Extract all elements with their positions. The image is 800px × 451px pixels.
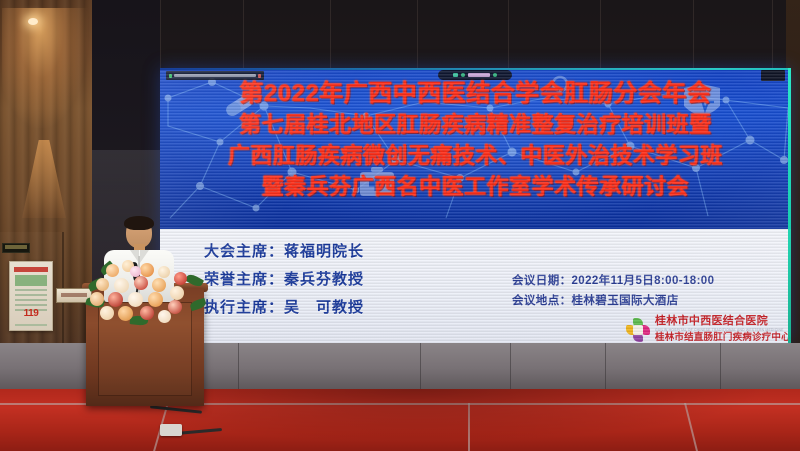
hospital-name-cn: 桂林市中西医结合医院	[655, 316, 791, 328]
signal-icon	[453, 73, 458, 77]
toolbar-label-center	[468, 73, 490, 77]
fire-safety-notice: 119	[9, 261, 53, 331]
chairperson-list: 大会主席：蒋福明院长 荣誉主席：秦兵芬教授 执行主席：吴 可教授	[204, 244, 364, 328]
meeting-meta: 会议日期：2022年11月5日8:00-18:00 会议地点：桂林碧玉国际大酒店	[512, 276, 714, 315]
chair-line-honorary: 荣誉主席：秦兵芬教授	[204, 272, 364, 287]
screen-edge-right	[788, 68, 791, 343]
led-stage-screen: 第2022年广西中西医结合学会肛肠分会年会 第七届桂北地区肛肠疾病精准整复治疗培…	[160, 68, 791, 343]
toolbar-label-left	[174, 74, 256, 77]
chair-line-executive: 执行主席：吴 可教授	[204, 300, 364, 315]
meeting-date: 会议日期：2022年11月5日8:00-18:00	[512, 276, 714, 288]
floor-power-box	[160, 424, 182, 436]
title-line-3: 广西肛肠疾病微创无痛技术、中医外治技术学习班	[160, 145, 791, 167]
title-line-4: 暨秦兵芬广西名中医工作室学术传承研讨会	[160, 176, 791, 198]
conference-title-block: 第2022年广西中西医结合学会肛肠分会年会 第七届桂北地区肛肠疾病精准整复治疗培…	[160, 82, 791, 198]
pinwheel-cross-logo-icon	[626, 318, 650, 342]
ceiling-spotlight-glow	[2, 8, 88, 128]
title-line-2: 第七届桂北地区肛肠疾病精准整复治疗培训班暨	[160, 114, 791, 136]
meeting-venue: 会议地点：桂林碧玉国际大酒店	[512, 296, 714, 308]
toolbar-status-chip	[169, 74, 172, 78]
slide-toolbar-center[interactable]	[438, 70, 512, 80]
hospital-identity: 桂林市中西医结合医院 GUILIN HOSPITAL OF CHINESE TR…	[626, 316, 791, 343]
chair-line-general: 大会主席：蒋福明院长	[204, 244, 364, 259]
exit-sign	[2, 243, 30, 253]
notice-warning-box	[15, 275, 47, 286]
screen-edge-top	[160, 68, 791, 70]
status-dot-icon	[461, 73, 465, 77]
slide-toolbar-right[interactable]	[761, 70, 785, 81]
record-dot-icon	[493, 73, 497, 77]
flower-arrangement	[86, 258, 208, 326]
notice-title-bar	[14, 267, 48, 272]
speaker-hair	[124, 216, 154, 230]
notice-footer-bar	[15, 324, 47, 326]
emergency-number: 119	[10, 308, 52, 319]
toolbar-record-chip	[258, 74, 261, 78]
title-line-1: 第2022年广西中西医结合学会肛肠分会年会	[160, 82, 791, 106]
hospital-center-name: 桂林市结直肠肛门疾病诊疗中心	[655, 333, 791, 343]
spotlight-bulb-icon	[28, 18, 38, 25]
conference-photo-scene: 119	[0, 0, 800, 451]
slide-toolbar-left[interactable]	[166, 71, 264, 80]
